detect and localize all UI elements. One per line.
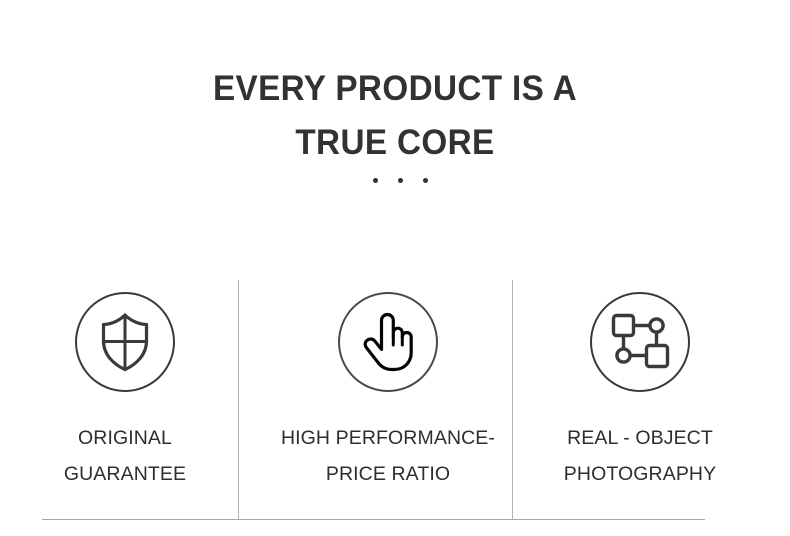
feature-label-line-1: ORIGINAL: [12, 420, 238, 456]
feature-label: REAL - OBJECT PHOTOGRAPHY: [515, 420, 765, 492]
feature-label-line-1: HIGH PERFORMANCE-: [275, 420, 501, 456]
feature-item-original-guarantee: ORIGINAL GUARANTEE: [0, 280, 250, 492]
dot-icon: [398, 178, 403, 183]
feature-list: ORIGINAL GUARANTEE HIGH PERFORMANCE- PRI…: [0, 280, 790, 525]
feature-label: HIGH PERFORMANCE- PRICE RATIO: [263, 420, 513, 492]
column-divider: [238, 280, 239, 520]
page-title-line-2: TRUE CORE: [20, 116, 771, 170]
feature-label-line-1: REAL - OBJECT: [527, 420, 753, 456]
decorative-dots: [0, 178, 790, 183]
shield-icon: [75, 292, 175, 392]
dot-icon: [423, 178, 428, 183]
feature-label: ORIGINAL GUARANTEE: [0, 420, 250, 492]
pointing-hand-icon: [338, 292, 438, 392]
promo-banner: EVERY PRODUCT IS A TRUE CORE ORIGINAL GU…: [0, 0, 790, 536]
feature-label-line-2: GUARANTEE: [12, 456, 238, 492]
feature-label-line-2: PHOTOGRAPHY: [527, 456, 753, 492]
bottom-rule: [42, 519, 705, 520]
column-divider: [512, 280, 513, 520]
page-title: EVERY PRODUCT IS A TRUE CORE: [0, 62, 790, 170]
feature-label-line-2: PRICE RATIO: [275, 456, 501, 492]
dot-icon: [373, 178, 378, 183]
feature-item-performance-price-ratio: HIGH PERFORMANCE- PRICE RATIO: [263, 280, 513, 492]
feature-item-real-object-photography: REAL - OBJECT PHOTOGRAPHY: [515, 280, 765, 492]
page-title-line-1: EVERY PRODUCT IS A: [20, 62, 771, 116]
network-nodes-icon: [590, 292, 690, 392]
